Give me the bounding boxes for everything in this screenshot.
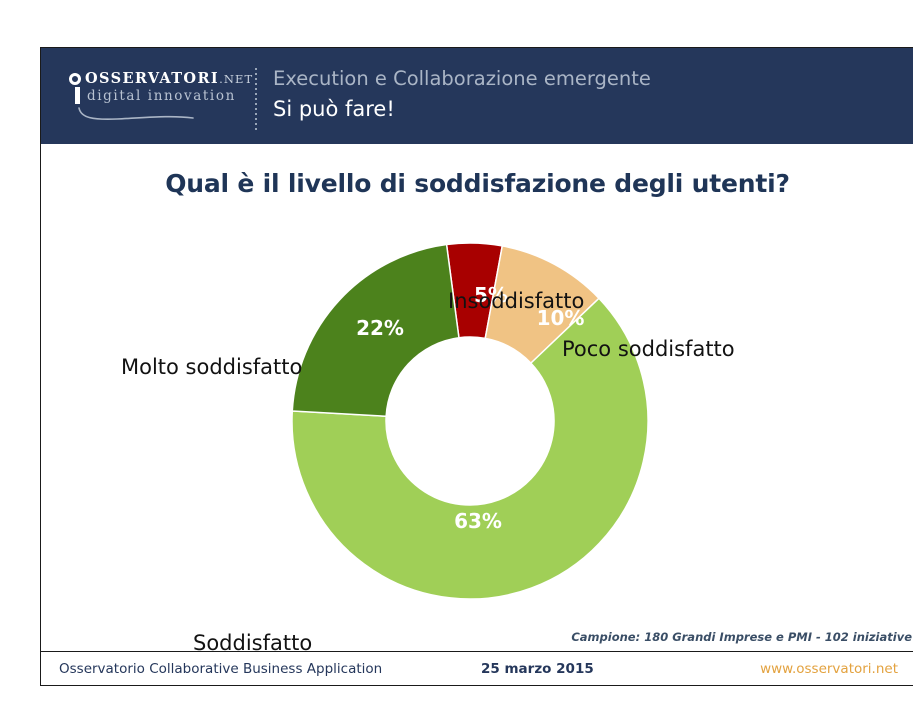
header-dotted-divider [255, 68, 257, 130]
slide-footer: Osservatorio Collaborative Business Appl… [41, 651, 913, 686]
logo-name-text: OSSERVATORI [85, 70, 219, 87]
chart-annotation: Campione: 180 Grandi Imprese e PMI - 102… [571, 630, 912, 644]
slide-body: Qual è il livello di soddisfazione degli… [41, 144, 913, 686]
chart-title: Qual è il livello di soddisfazione degli… [41, 169, 913, 198]
logo-wordmark: OSSERVATORI.NET [85, 70, 253, 87]
footer-observatory-name: Osservatorio Collaborative Business Appl… [59, 661, 382, 677]
slice-value-molto-soddisfatto: 22% [350, 316, 410, 340]
category-label-poco-soddisfatto: Poco soddisfatto [562, 337, 735, 361]
slide-root: OSSERVATORI.NET digital innovation Execu… [0, 0, 914, 726]
footer-website-link[interactable]: www.osservatori.net [760, 661, 898, 677]
header-title-block: Execution e Collaborazione emergente Si … [273, 64, 893, 124]
slide-header: OSSERVATORI.NET digital innovation Execu… [41, 48, 913, 144]
osservatori-logo[interactable]: OSSERVATORI.NET digital innovation [69, 70, 269, 132]
category-label-molto-soddisfatto: Molto soddisfatto [121, 355, 302, 379]
presentation-slide: OSSERVATORI.NET digital innovation Execu… [40, 47, 913, 686]
category-label-insoddisfatto: Insoddisfatto [448, 289, 584, 313]
header-subtitle: Execution e Collaborazione emergente [273, 64, 893, 94]
logo-tld-text: .NET [219, 72, 253, 86]
header-title: Si può fare! [273, 94, 893, 124]
slice-value-soddisfatto: 63% [448, 509, 508, 533]
logo-tagline: digital innovation [87, 88, 236, 104]
logo-swoosh-icon [77, 106, 195, 122]
footer-date: 25 marzo 2015 [481, 661, 594, 677]
